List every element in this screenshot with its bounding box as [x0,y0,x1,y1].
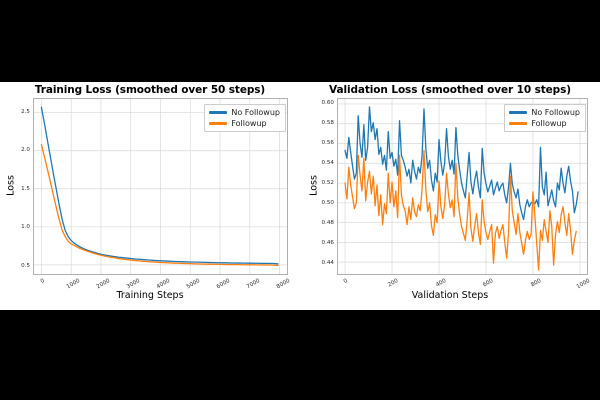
legend-label-followup: Followup [231,119,266,128]
ytick-label: 0.48 [322,220,334,226]
xtick-label: 4000 [155,278,170,290]
ytick-label: 0.54 [322,160,334,166]
series-line-followup [41,145,278,266]
ytick-label: 0.52 [322,180,334,186]
xtick-label: 2000 [95,278,110,290]
ytick-label: 0.60 [322,100,334,106]
training-loss-ylabel: Loss [6,166,17,206]
validation-loss-xlabel: Validation Steps [300,290,600,301]
training-loss-xlabel: Training Steps [0,290,300,301]
ytick-label: 2.5 [21,109,30,115]
xtick-label: 1000 [576,278,591,290]
legend-swatch-followup [509,122,527,124]
legend-item-followup[interactable]: Followup [209,119,280,128]
xtick-label: 7000 [245,278,260,290]
legend-item-no-followup[interactable]: No Followup [209,108,280,117]
validation-loss-chart-panel: Validation Loss (smoothed over 10 steps)… [300,82,600,310]
legend-swatch-no-followup [209,111,227,113]
xtick-label: 8000 [275,278,290,290]
xtick-label: 200 [388,278,400,289]
figure-canvas: Training Loss (smoothed over 50 steps) 0… [0,82,600,310]
legend-swatch-no-followup [509,111,527,113]
ytick-label: 0.56 [322,140,334,146]
legend-label-no-followup: No Followup [231,108,280,117]
ytick-label: 0.58 [322,120,334,126]
ytick-label: 1.0 [21,224,30,230]
legend-item-no-followup[interactable]: No Followup [509,108,580,117]
xtick-label: 600 [482,278,494,289]
legend-item-followup[interactable]: Followup [509,119,580,128]
ytick-label: 0.46 [322,240,334,246]
ytick-label: 0.44 [322,260,334,266]
validation-loss-legend[interactable]: No Followup Followup [504,104,586,132]
xtick-label: 1000 [65,278,80,290]
xtick-label: 0 [343,278,349,285]
legend-label-no-followup: No Followup [531,108,580,117]
ytick-label: 2.0 [21,147,30,153]
training-loss-chart-panel: Training Loss (smoothed over 50 steps) 0… [0,82,300,310]
validation-loss-title: Validation Loss (smoothed over 10 steps) [300,84,600,96]
ytick-label: 0.5 [21,263,30,269]
legend-swatch-followup [209,122,227,124]
training-loss-title: Training Loss (smoothed over 50 steps) [0,84,300,96]
xtick-label: 3000 [125,278,140,290]
xtick-label: 400 [435,278,447,289]
xtick-label: 800 [530,278,542,289]
legend-label-followup: Followup [531,119,566,128]
training-loss-legend[interactable]: No Followup Followup [204,104,286,132]
xtick-label: 0 [39,278,45,285]
ytick-label: 1.5 [21,186,30,192]
xtick-label: 5000 [185,278,200,290]
validation-loss-ylabel: Loss [309,166,320,206]
ytick-label: 0.50 [322,200,334,206]
xtick-label: 6000 [215,278,230,290]
